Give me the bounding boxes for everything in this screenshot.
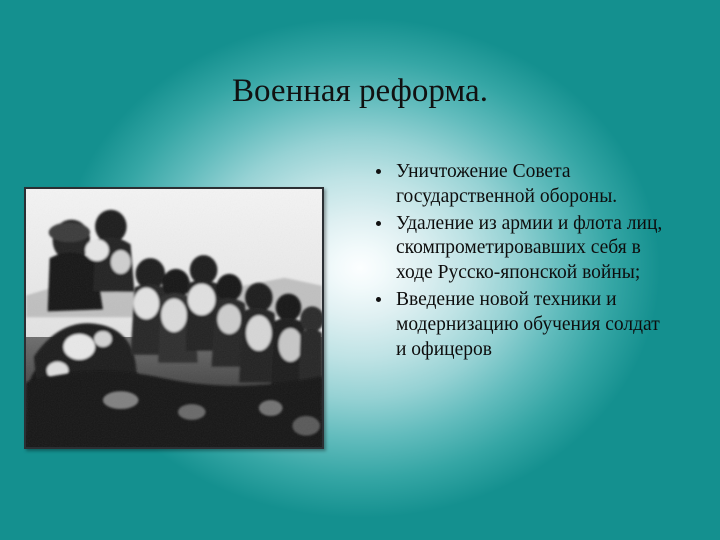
- bullet-dot-icon: [376, 169, 381, 174]
- bullet-dot-icon: [376, 221, 381, 226]
- bullet-list: Уничтожение Совета государственной оборо…: [372, 160, 672, 364]
- list-item: Введение новой техники и модернизацию об…: [372, 288, 672, 362]
- list-item: Удаление из армии и флота лиц, скомпроме…: [372, 212, 672, 286]
- presentation-slide: Военная реформа.: [0, 0, 720, 540]
- list-item-text: Удаление из армии и флота лиц, скомпроме…: [396, 213, 662, 284]
- list-item-text: Введение новой техники и модернизацию об…: [396, 289, 660, 360]
- soldiers-photo-image: [26, 189, 322, 448]
- bullet-dot-icon: [376, 297, 381, 302]
- slide-title: Военная реформа.: [0, 72, 720, 110]
- list-item-text: Уничтожение Совета государственной оборо…: [396, 161, 617, 207]
- list-item: Уничтожение Совета государственной оборо…: [372, 160, 672, 210]
- slide-photo: [24, 187, 324, 449]
